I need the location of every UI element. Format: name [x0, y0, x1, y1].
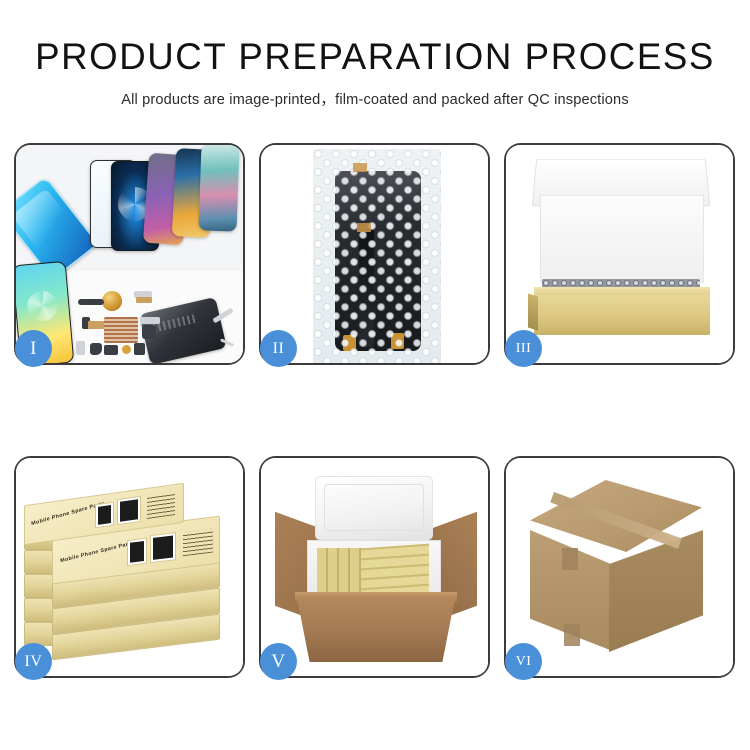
- carton-body: [297, 598, 455, 662]
- step-badge-2: II: [260, 330, 297, 367]
- stacked-boxes-illustration: Mobile Phone Spare Parts Mobile Phone Sp…: [16, 458, 243, 676]
- step-6-image: [506, 458, 733, 676]
- speaker-part: [102, 291, 122, 311]
- product-preparation-process-page: PRODUCT PREPARATION PROCESS All products…: [0, 0, 750, 750]
- process-steps-grid: I II: [14, 143, 736, 678]
- step-badge-6: VI: [505, 643, 542, 680]
- process-step-card-3[interactable]: III: [504, 143, 735, 365]
- page-subtitle: All products are image-printed，film-coat…: [0, 77, 750, 109]
- process-step-card-1[interactable]: I: [14, 143, 245, 365]
- process-step-card-4[interactable]: Mobile Phone Spare Parts Mobile Phone Sp…: [14, 456, 245, 678]
- sealed-carton-illustration: [506, 458, 733, 676]
- foam-sheet: [540, 195, 704, 283]
- page-header: PRODUCT PREPARATION PROCESS All products…: [0, 0, 750, 109]
- step-badge-4: IV: [15, 643, 52, 680]
- bubble-wrapped-screen-illustration: [261, 145, 488, 363]
- carton-with-cooler-illustration: [261, 458, 488, 676]
- yellow-boxes-row-b: [361, 544, 429, 597]
- box-side-panel: [528, 293, 538, 330]
- step-4-image: Mobile Phone Spare Parts Mobile Phone Sp…: [16, 458, 243, 676]
- box-front-panel: [534, 295, 710, 335]
- styrofoam-lid: [315, 476, 433, 540]
- step-badge-1: I: [15, 330, 52, 367]
- phone-teal-screen: [199, 145, 240, 232]
- step-2-image: [261, 145, 488, 363]
- step-5-image: [261, 458, 488, 676]
- step-badge-5: V: [260, 643, 297, 680]
- connector-grid-part: [104, 317, 138, 343]
- page-title: PRODUCT PREPARATION PROCESS: [4, 0, 747, 77]
- box-label-text-back: Mobile Phone Spare Parts: [31, 501, 105, 527]
- process-step-card-5[interactable]: V: [259, 456, 490, 678]
- process-step-card-6[interactable]: VI: [504, 456, 735, 678]
- box-label-text-front: Mobile Phone Spare Parts: [60, 540, 134, 564]
- step-badge-3: III: [505, 330, 542, 367]
- bubble-wrap-bag: [313, 149, 441, 363]
- step-3-image: [506, 145, 733, 363]
- process-step-card-2[interactable]: II: [259, 143, 490, 365]
- open-foam-box-illustration: [506, 145, 733, 363]
- phone-parts-illustration: [16, 145, 243, 363]
- step-1-image: [16, 145, 243, 363]
